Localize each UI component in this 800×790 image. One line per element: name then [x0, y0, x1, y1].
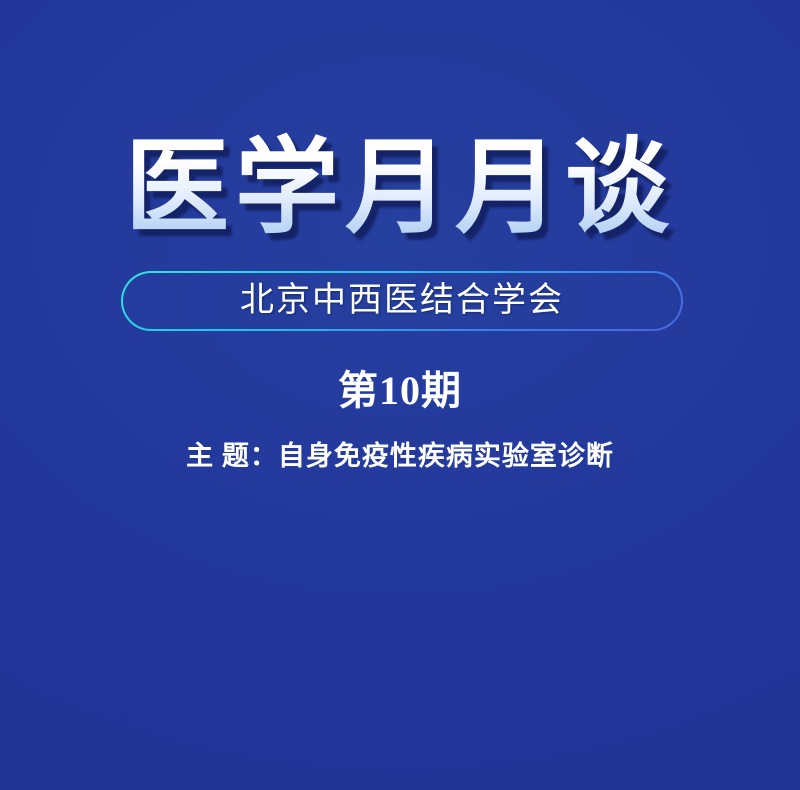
poster-slide: 医学月月谈 医学月月谈 北京中西医结合学会 第10期 主 题：自身免疫性疾病实验… — [0, 0, 800, 790]
topic-line: 主 题：自身免疫性疾病实验室诊断 — [0, 438, 800, 474]
organization-pill-inner: 北京中西医结合学会 — [123, 273, 681, 329]
poster-title-text: 医学月月谈 — [0, 128, 800, 250]
issue-number: 第10期 — [0, 366, 800, 416]
content-stage — [0, 500, 800, 790]
organization-pill: 北京中西医结合学会 — [121, 271, 683, 331]
organization-name: 北京中西医结合学会 — [240, 282, 564, 320]
poster-title: 医学月月谈 医学月月谈 — [0, 128, 800, 250]
